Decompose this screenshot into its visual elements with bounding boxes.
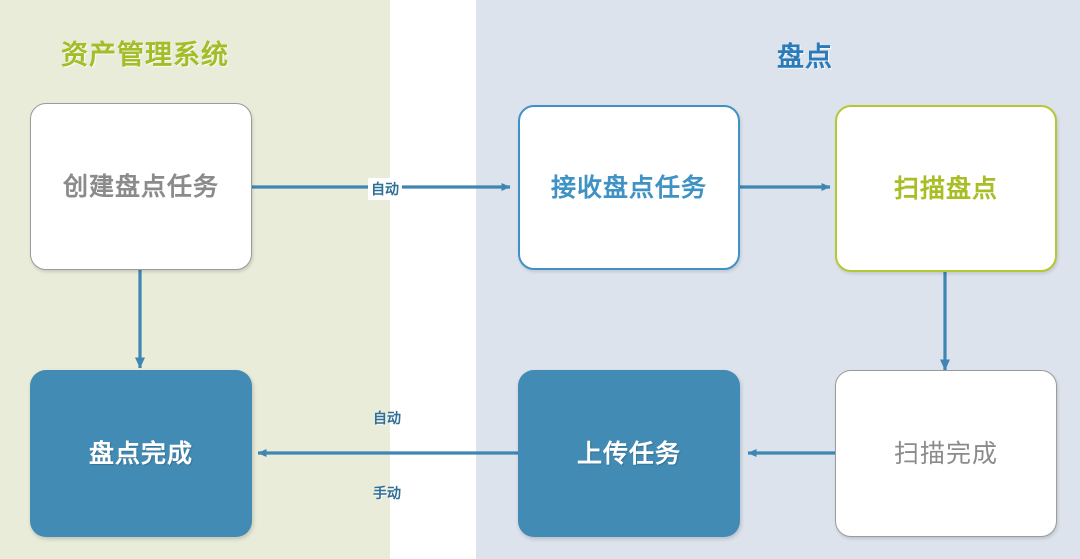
node-receive-task[interactable]: 接收盘点任务 [518,105,740,270]
swimlane-title-left: 资产管理系统 [61,33,229,72]
node-upload-task-label: 上传任务 [577,439,681,469]
edge-label-manual-bottom: 手动 [370,482,404,504]
node-count-done-label: 盘点完成 [89,439,193,469]
node-create-task-label: 创建盘点任务 [63,172,219,202]
node-scan-count-label: 扫描盘点 [894,174,998,204]
swimlane-title-right: 盘点 [777,35,833,74]
node-scan-done-label: 扫描完成 [894,439,998,469]
edge-label-auto-top: 自动 [368,178,402,200]
node-receive-task-label: 接收盘点任务 [551,173,707,203]
node-scan-count[interactable]: 扫描盘点 [835,105,1057,272]
node-create-task[interactable]: 创建盘点任务 [30,103,252,270]
diagram-canvas: 资产管理系统 盘点 创建盘点任务 接收盘点任务 [0,0,1080,559]
node-count-done[interactable]: 盘点完成 [30,370,252,537]
node-upload-task[interactable]: 上传任务 [518,370,740,537]
node-scan-done[interactable]: 扫描完成 [835,370,1057,537]
edge-label-auto-bottom: 自动 [370,407,404,429]
